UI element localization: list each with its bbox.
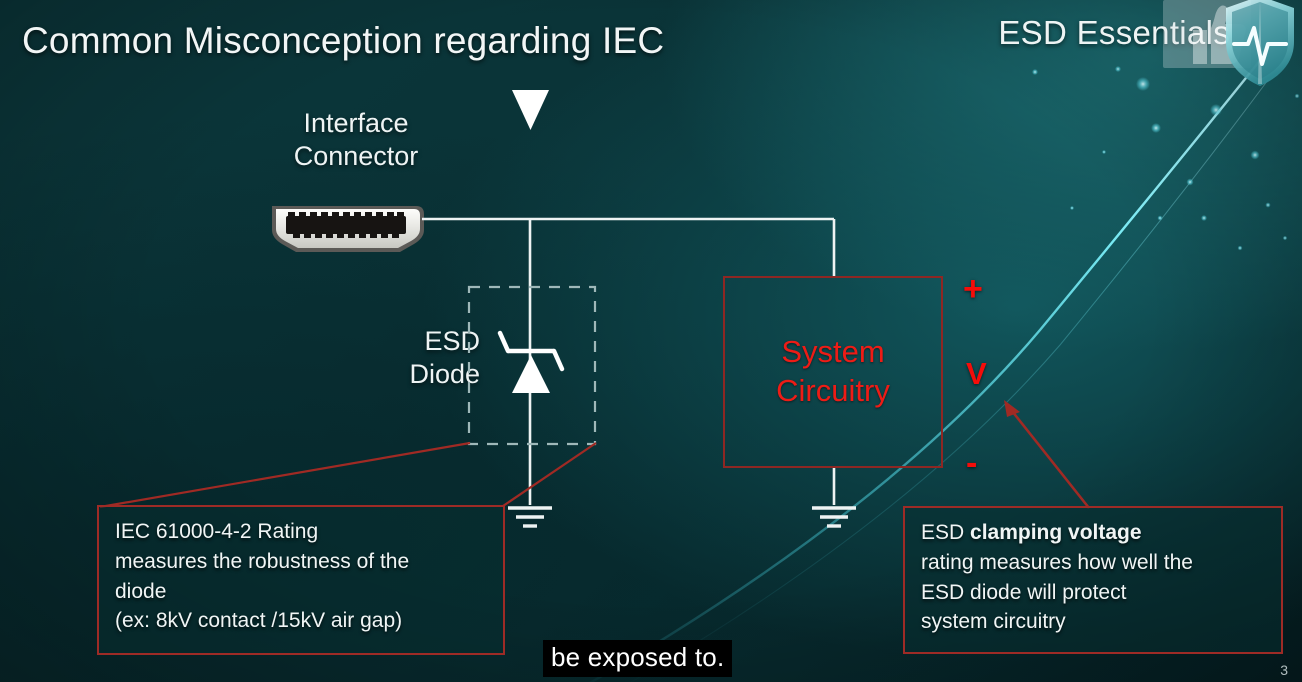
callout-left-line4: (ex: 8kV contact /15kV air gap): [115, 606, 489, 636]
callout-right-lead: ESD: [921, 521, 970, 544]
slide-canvas: Common Misconception regarding IEC ESD E…: [0, 0, 1302, 682]
voltage-minus-marker: -: [966, 446, 977, 480]
ground-icon: [508, 508, 552, 526]
callout-iec-rating: IEC 61000-4-2 Rating measures the robust…: [97, 505, 505, 655]
system-circuitry-box: System Circuitry: [723, 276, 943, 468]
hdmi-connector-icon: [272, 206, 424, 252]
callout-right-bold: clamping voltage: [970, 521, 1142, 544]
system-circuitry-label-line2: Circuitry: [776, 372, 890, 411]
subtitle-caption: be exposed to.: [543, 640, 732, 677]
callout-left-line2: measures the robustness of the: [115, 547, 489, 577]
voltage-plus-marker: +: [963, 272, 983, 306]
callout-clamping-voltage: ESD clamping voltage rating measures how…: [903, 506, 1283, 654]
callout-right-line4: system circuitry: [921, 607, 1267, 637]
system-circuitry-label-line1: System: [776, 333, 890, 372]
system-circuitry-label: System Circuitry: [776, 333, 890, 411]
callout-right-line2: rating measures how well the: [921, 548, 1267, 578]
callout-left-line1: IEC 61000-4-2 Rating: [115, 517, 489, 547]
ground-icon-system: [812, 508, 856, 526]
callout-left-line3: diode: [115, 577, 489, 607]
page-number: 3: [1280, 662, 1288, 678]
callout-right-line3: ESD diode will protect: [921, 578, 1267, 608]
voltage-v-marker: V: [966, 358, 987, 389]
callout-right-line1: ESD clamping voltage: [921, 518, 1267, 548]
